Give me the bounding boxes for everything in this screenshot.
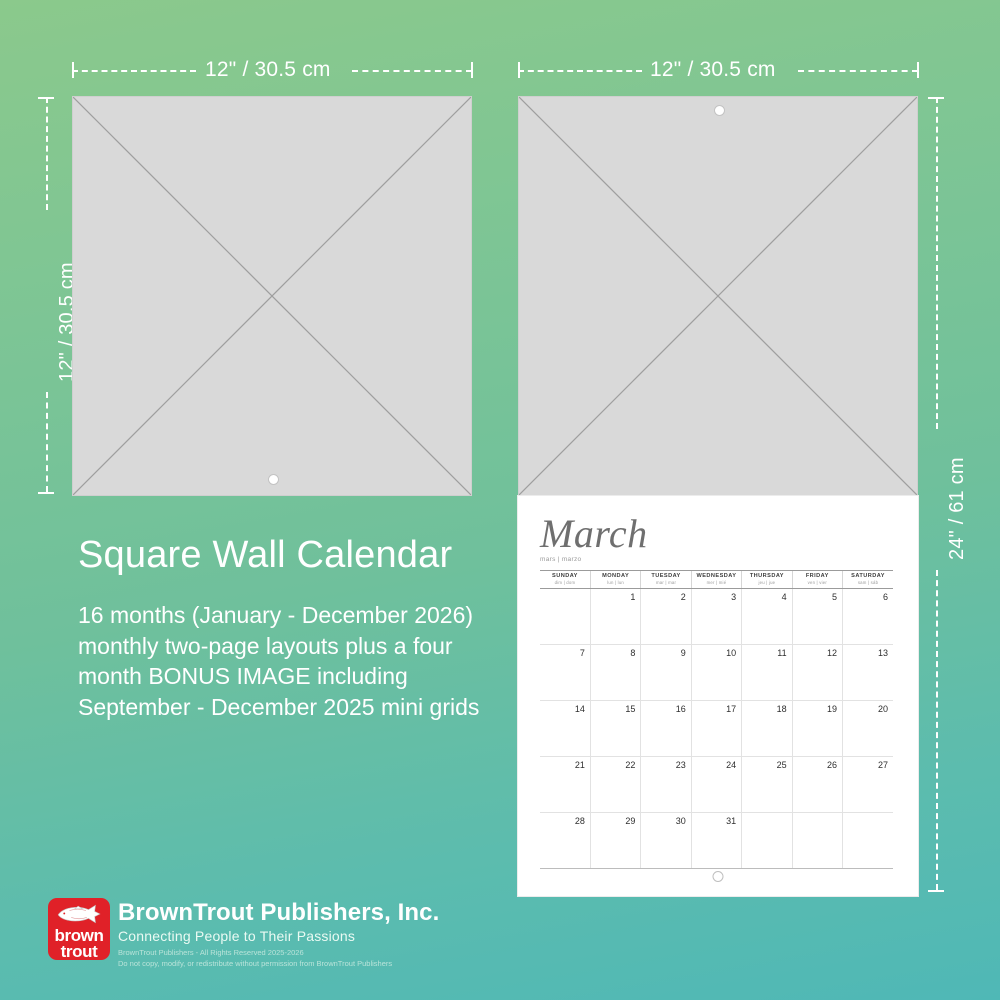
calendar-day-cell[interactable]: 8 [590, 645, 640, 701]
calendar-weekday-translation: ven | vier [793, 580, 842, 586]
calendar-day-cell[interactable]: 19 [792, 701, 842, 757]
product-preview-canvas: 12" / 30.5 cm 12" / 30.5 cm 12" / 30.5 c… [0, 0, 1000, 1000]
dimension-label-right-vertical: 24" / 61 cm [946, 457, 969, 560]
calendar-week-row: 28293031 [540, 813, 893, 869]
product-description: 16 months (January - December 2026)month… [78, 600, 528, 722]
dimension-dash-left [518, 70, 642, 72]
dimension-cap-bottom [928, 890, 944, 892]
calendar-day-cell[interactable]: 6 [843, 589, 893, 645]
calendar-day-cell[interactable] [742, 813, 792, 869]
calendar-day-cell[interactable]: 9 [641, 645, 691, 701]
product-description-line: 16 months (January - December 2026) [78, 600, 528, 631]
calendar-day-cell[interactable]: 20 [843, 701, 893, 757]
calendar-day-cell[interactable] [843, 813, 893, 869]
calendar-day-cell[interactable]: 14 [540, 701, 590, 757]
calendar-day-cell[interactable] [792, 813, 842, 869]
browntrout-logo: brown trout [48, 898, 110, 960]
calendar-weekday-header: TUESDAYmar | mar [641, 571, 691, 589]
calendar-weekday-name: THURSDAY [742, 573, 791, 580]
calendar-day-cell[interactable]: 2 [641, 589, 691, 645]
calendar-weekday-translation: lun | lun [591, 580, 640, 586]
dimension-dash-top [46, 97, 48, 210]
calendar-body: 1234567891011121314151617181920212223242… [540, 589, 893, 869]
calendar-week-row: 78910111213 [540, 645, 893, 701]
calendar-day-cell[interactable]: 17 [691, 701, 741, 757]
calendar-weekday-translation: dim | dom [540, 580, 590, 586]
product-description-line: month BONUS IMAGE including [78, 661, 528, 692]
calendar-day-cell[interactable]: 10 [691, 645, 741, 701]
product-description-line: monthly two-page layouts plus a four [78, 631, 528, 662]
calendar-weekday-name: SATURDAY [843, 573, 893, 580]
calendar-day-cell[interactable]: 7 [540, 645, 590, 701]
trout-fish-icon [48, 901, 110, 927]
copyright-line-2: Do not copy, modify, or redistribute wit… [118, 959, 392, 970]
product-description-line: September - December 2025 mini grids [78, 692, 528, 723]
calendar-day-cell[interactable]: 15 [590, 701, 640, 757]
calendar-weekday-translation: mar | mar [641, 580, 690, 586]
calendar-weekday-name: TUESDAY [641, 573, 690, 580]
calendar-week-row: 123456 [540, 589, 893, 645]
dimension-cap-right [471, 62, 473, 78]
calendar-weekday-header: WEDNESDAYmer | mié [691, 571, 741, 589]
calendar-header-row: SUNDAYdim | domMONDAYlun | lunTUESDAYmar… [540, 571, 893, 589]
page-title: Square Wall Calendar [78, 534, 452, 577]
publisher-tagline: Connecting People to Their Passions [118, 928, 355, 944]
dimension-dash-left [72, 70, 196, 72]
calendar-image-panel-right [518, 96, 918, 496]
calendar-day-cell[interactable]: 1 [590, 589, 640, 645]
dimension-dash-right [352, 70, 472, 72]
calendar-day-cell[interactable]: 31 [691, 813, 741, 869]
calendar-day-cell[interactable]: 3 [691, 589, 741, 645]
calendar-day-cell[interactable]: 27 [843, 757, 893, 813]
calendar-weekday-translation: sam | sáb [843, 580, 893, 586]
calendar-day-cell[interactable]: 22 [590, 757, 640, 813]
calendar-weekday-header: MONDAYlun | lun [590, 571, 640, 589]
calendar-day-cell[interactable]: 5 [792, 589, 842, 645]
calendar-grid-page: March mars | marzo SUNDAYdim | domMONDAY… [518, 496, 918, 896]
calendar-day-cell[interactable]: 24 [691, 757, 741, 813]
calendar-day-cell[interactable]: 30 [641, 813, 691, 869]
calendar-day-cell[interactable]: 16 [641, 701, 691, 757]
hole-punch [713, 871, 724, 882]
calendar-day-cell[interactable]: 13 [843, 645, 893, 701]
calendar-weekday-header: THURSDAYjeu | jue [742, 571, 792, 589]
calendar-day-cell[interactable]: 28 [540, 813, 590, 869]
hole-punch [268, 474, 279, 485]
calendar-weekday-translation: jeu | jue [742, 580, 791, 586]
dimension-dash-bottom [936, 570, 938, 890]
calendar-day-cell[interactable]: 26 [792, 757, 842, 813]
calendar-image-panel-left [72, 96, 472, 496]
dimension-dash-top [936, 97, 938, 429]
calendar-weekday-header: SUNDAYdim | dom [540, 571, 590, 589]
placeholder-cross-icon [519, 97, 917, 495]
calendar-day-cell[interactable]: 21 [540, 757, 590, 813]
calendar-day-cell[interactable]: 18 [742, 701, 792, 757]
calendar-day-cell[interactable]: 4 [742, 589, 792, 645]
calendar-day-cell[interactable]: 29 [590, 813, 640, 869]
calendar-weekday-header: FRIDAYven | vier [792, 571, 842, 589]
placeholder-cross-icon [73, 97, 471, 495]
logo-word-trout: trout [48, 943, 110, 960]
calendar-day-cell[interactable]: 23 [641, 757, 691, 813]
calendar-month-subtitle: mars | marzo [540, 556, 902, 563]
dimension-cap-right [917, 62, 919, 78]
dimension-label-top-left: 12" / 30.5 cm [205, 58, 331, 82]
calendar-weekday-name: SUNDAY [540, 573, 590, 580]
calendar-table: SUNDAYdim | domMONDAYlun | lunTUESDAYmar… [540, 570, 893, 869]
calendar-weekday-name: WEDNESDAY [692, 573, 741, 580]
dimension-dash-bottom [46, 392, 48, 492]
dimension-cap-bottom [38, 492, 54, 494]
calendar-weekday-name: FRIDAY [793, 573, 842, 580]
publisher-name: BrownTrout Publishers, Inc. [118, 899, 439, 927]
calendar-day-cell[interactable]: 11 [742, 645, 792, 701]
dimension-dash-right [798, 70, 918, 72]
calendar-weekday-translation: mer | mié [692, 580, 741, 586]
calendar-week-row: 14151617181920 [540, 701, 893, 757]
calendar-week-row: 21222324252627 [540, 757, 893, 813]
calendar-day-cell[interactable]: 12 [792, 645, 842, 701]
calendar-day-cell[interactable] [540, 589, 590, 645]
calendar-weekday-name: MONDAY [591, 573, 640, 580]
calendar-day-cell[interactable]: 25 [742, 757, 792, 813]
calendar-weekday-header: SATURDAYsam | sáb [843, 571, 893, 589]
hole-punch [714, 105, 725, 116]
dimension-label-top-right: 12" / 30.5 cm [650, 58, 776, 82]
copyright-notice: BrownTrout Publishers - All Rights Reser… [118, 948, 392, 970]
calendar-month-title: March [540, 514, 902, 553]
copyright-line-1: BrownTrout Publishers - All Rights Reser… [118, 948, 392, 959]
